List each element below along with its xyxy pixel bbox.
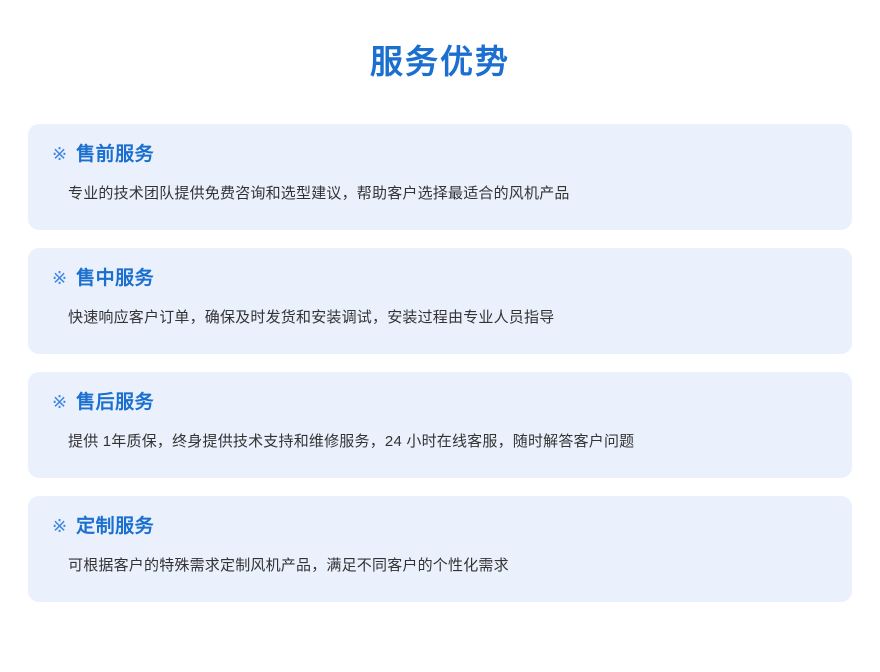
card-title: 定制服务 — [76, 517, 154, 536]
card-body-text: 专业的技术团队提供免费咨询和选型建议，帮助客户选择最适合的风机产品 — [52, 164, 828, 206]
service-advantages-page: 服务优势 ※ 售前服务 专业的技术团队提供免费咨询和选型建议，帮助客户选择最适合… — [0, 0, 880, 672]
card-heading: ※ 售前服务 — [52, 145, 828, 164]
card-heading: ※ 定制服务 — [52, 517, 828, 536]
reference-mark-icon: ※ — [52, 145, 67, 163]
reference-mark-icon: ※ — [52, 517, 67, 535]
card-heading: ※ 售后服务 — [52, 393, 828, 412]
reference-mark-icon: ※ — [52, 269, 67, 287]
reference-mark-icon: ※ — [52, 393, 67, 411]
card-body-text: 可根据客户的特殊需求定制风机产品，满足不同客户的个性化需求 — [52, 536, 828, 578]
service-card-insale: ※ 售中服务 快速响应客户订单，确保及时发货和安装调试，安装过程由专业人员指导 — [28, 248, 852, 354]
service-card-aftersale: ※ 售后服务 提供 1年质保，终身提供技术支持和维修服务，24 小时在线客服，随… — [28, 372, 852, 478]
card-title: 售前服务 — [76, 145, 154, 164]
card-title: 售后服务 — [76, 393, 154, 412]
card-body-text: 快速响应客户订单，确保及时发货和安装调试，安装过程由专业人员指导 — [52, 288, 828, 330]
page-title: 服务优势 — [0, 0, 880, 81]
service-card-presale: ※ 售前服务 专业的技术团队提供免费咨询和选型建议，帮助客户选择最适合的风机产品 — [28, 124, 852, 230]
service-card-list: ※ 售前服务 专业的技术团队提供免费咨询和选型建议，帮助客户选择最适合的风机产品… — [0, 124, 880, 602]
card-title: 售中服务 — [76, 269, 154, 288]
card-heading: ※ 售中服务 — [52, 269, 828, 288]
service-card-custom: ※ 定制服务 可根据客户的特殊需求定制风机产品，满足不同客户的个性化需求 — [28, 496, 852, 602]
card-body-text: 提供 1年质保，终身提供技术支持和维修服务，24 小时在线客服，随时解答客户问题 — [52, 412, 828, 454]
